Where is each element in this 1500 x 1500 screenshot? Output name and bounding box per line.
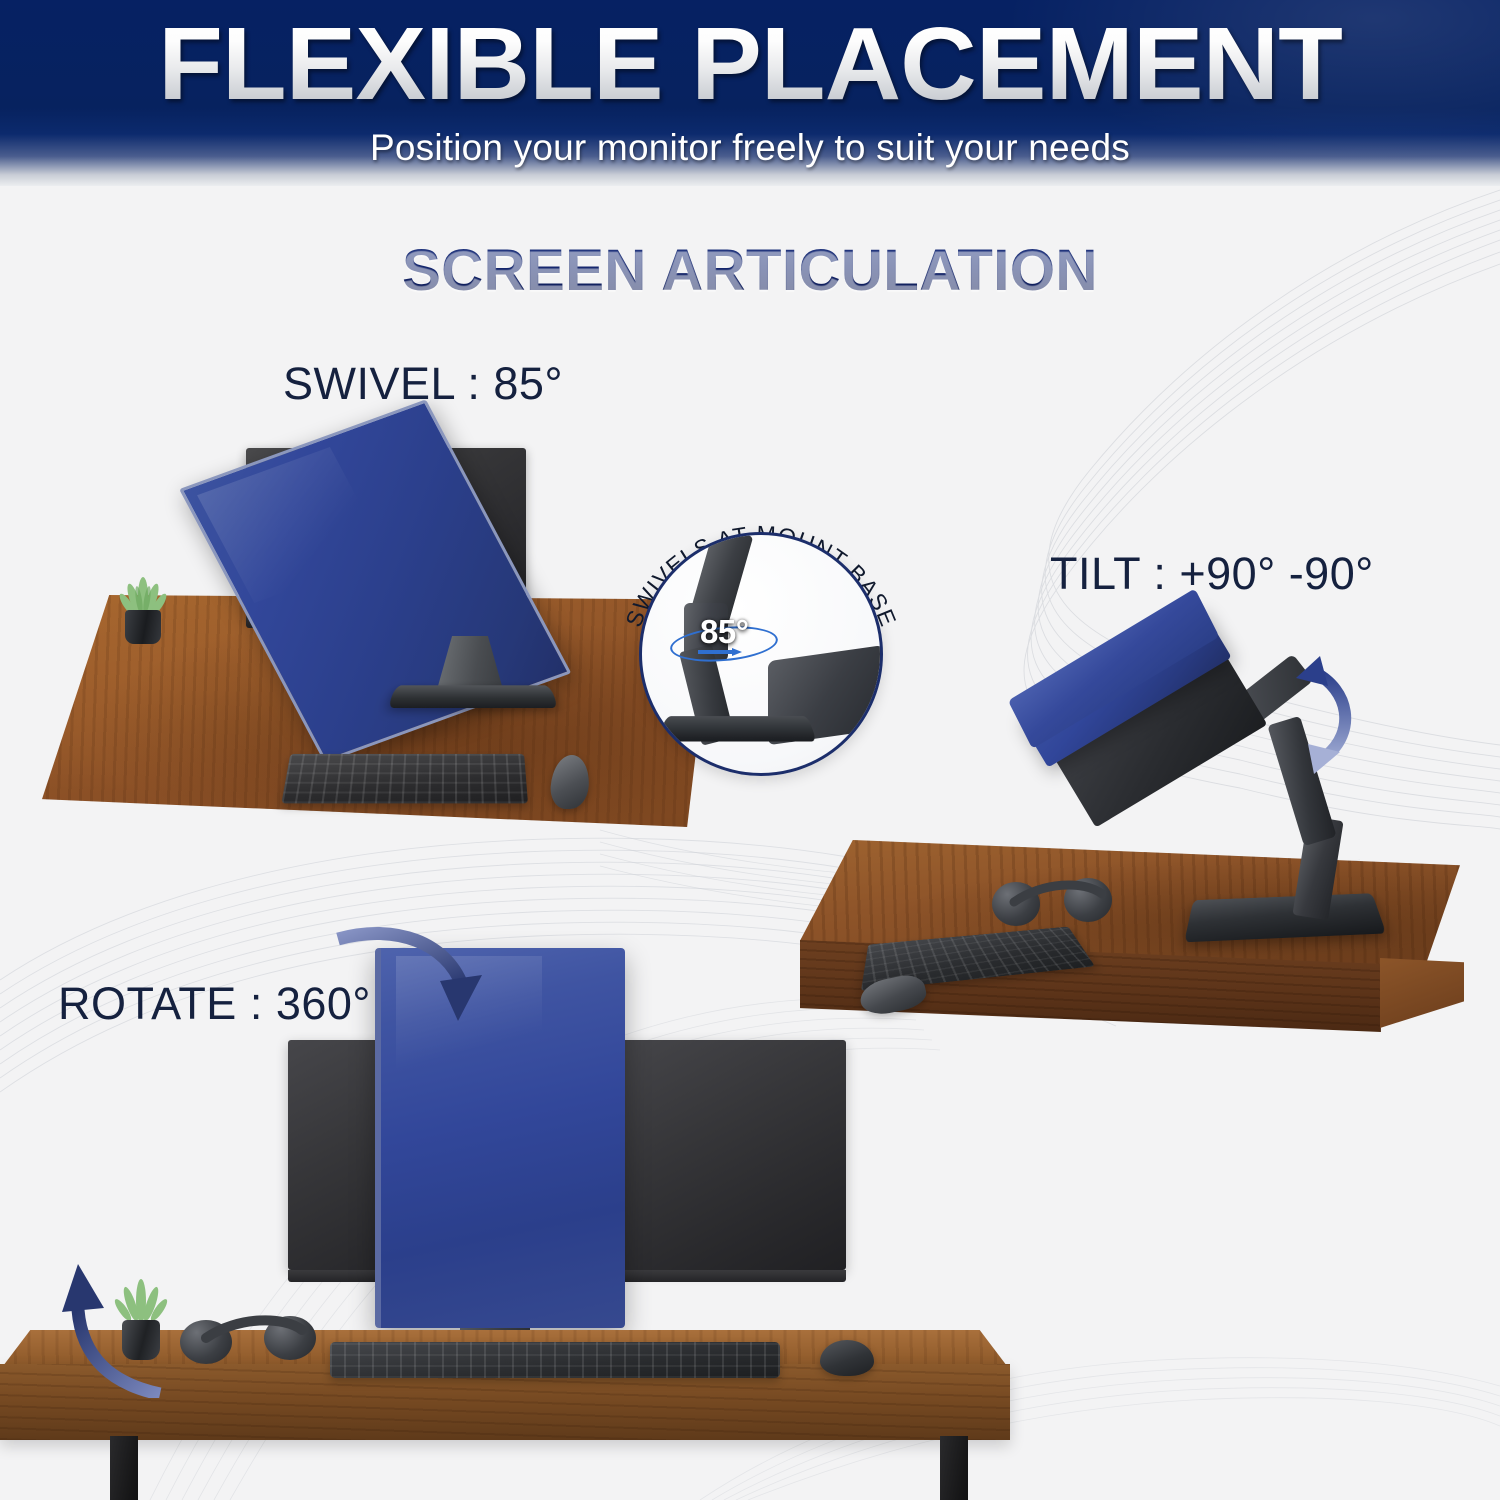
tilt-label: TILT : +90° -90°: [1050, 548, 1374, 600]
page-subtitle: Position your monitor freely to suit you…: [0, 127, 1500, 169]
headphone-band: [992, 878, 1128, 928]
potted-plant-swivel: [117, 576, 169, 644]
desk-slab-side-edge: [1380, 958, 1464, 1028]
swivel-mount-callout: SWIVELS AT MOUNT BASE 85°: [625, 518, 897, 790]
callout-degree-label: 85°: [700, 613, 748, 651]
page-title: FLEXIBLE PLACEMENT: [0, 8, 1500, 119]
rotate-arrow-bottom-icon: [60, 1248, 190, 1398]
headphones-rotate: [180, 1314, 330, 1362]
callout-circle: 85°: [639, 532, 883, 776]
headphone-band-2: [180, 1314, 330, 1362]
screen-gloss: [197, 447, 387, 603]
callout-mount-base: [657, 716, 817, 741]
section-title: SCREEN ARTICULATION: [0, 237, 1500, 304]
keyboard-swivel: [281, 754, 528, 803]
infographic-stage: FLEXIBLE PLACEMENT Position your monitor…: [0, 0, 1500, 1500]
header-banner: FLEXIBLE PLACEMENT Position your monitor…: [0, 0, 1500, 186]
tilt-double-arrow-icon: [1280, 650, 1390, 780]
monitor-stand-base-swivel: [387, 685, 559, 708]
swivel-label: SWIVEL : 85°: [283, 358, 563, 410]
black-monitor-right-rotate: [608, 1040, 846, 1270]
black-monitor-chin-right: [608, 1270, 846, 1282]
desk-leg-right: [940, 1436, 968, 1500]
mouse-rotate: [820, 1340, 874, 1376]
desk-leg-left: [110, 1436, 138, 1500]
rotate-label: ROTATE : 360°: [58, 978, 371, 1030]
headphones-tilt: [992, 878, 1128, 928]
tilted-monitor-assembly: [1028, 611, 1292, 868]
plant-pot: [125, 610, 161, 644]
keyboard-rotate: [330, 1342, 780, 1378]
